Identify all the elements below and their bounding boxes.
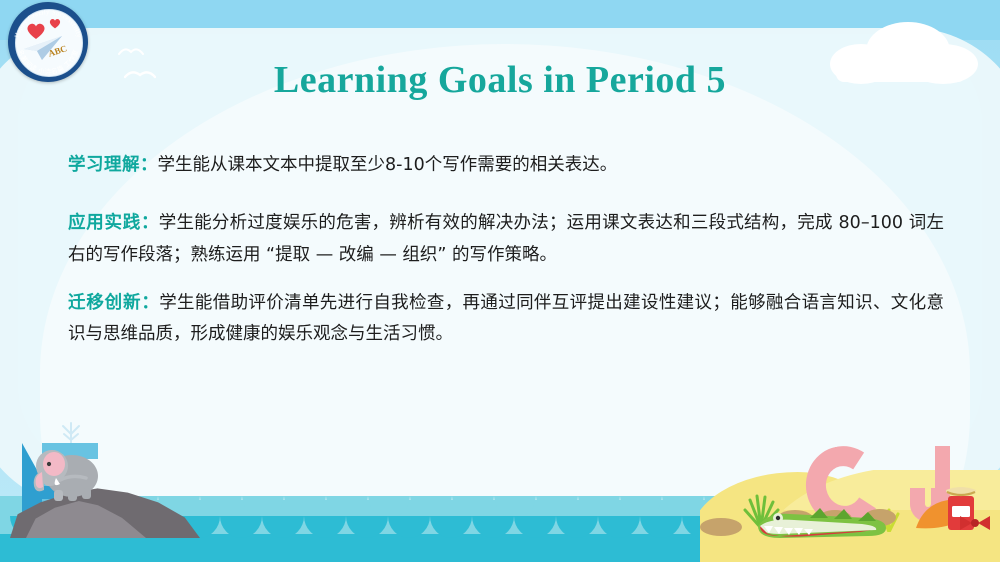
goal-separator: ： (141, 213, 159, 233)
goal-label: 学习理解 (68, 155, 140, 175)
goal-text: 学生能分析过度娱乐的危害，辨析有效的解决办法；运用课文表达和三段式结构，完成 8… (68, 213, 944, 265)
goal-item: 应用实践：学生能分析过度娱乐的危害，辨析有效的解决办法；运用课文表达和三段式结构… (68, 208, 944, 272)
elephant-icon (30, 440, 108, 502)
goals-list: 学习理解：学生能从课本文本中提取至少8-10个写作需要的相关表达。 应用实践：学… (68, 150, 944, 363)
stone (700, 518, 742, 536)
goal-item: 学习理解：学生能从课本文本中提取至少8-10个写作需要的相关表达。 (68, 150, 944, 182)
goal-text: 学生能借助评价清单先进行自我检查，再通过同伴互评提出建设性建议；能够融合语言知识… (68, 293, 944, 345)
goal-text: 学生能从课本文本中提取至少8-10个写作需要的相关表达。 (158, 155, 618, 175)
heart-icon (26, 22, 46, 40)
goal-label: 应用实践 (68, 213, 141, 233)
goal-item: 迁移创新：学生能借助评价清单先进行自我检查，再通过同伴互评提出建设性建议；能够融… (68, 288, 944, 352)
heart-icon (49, 18, 61, 29)
page-title: Learning Goals in Period 5 (0, 58, 1000, 102)
goal-separator: ： (141, 293, 159, 313)
goal-separator: ： (140, 155, 158, 175)
goal-label: 迁移创新 (68, 293, 141, 313)
slide-root: Happy Crazily Successfully 名著阅读 小诗名篇 工作室… (0, 0, 1000, 562)
ribbon-bow-icon (958, 510, 992, 536)
seagull-icon (118, 45, 144, 57)
crocodile-icon (750, 496, 890, 544)
